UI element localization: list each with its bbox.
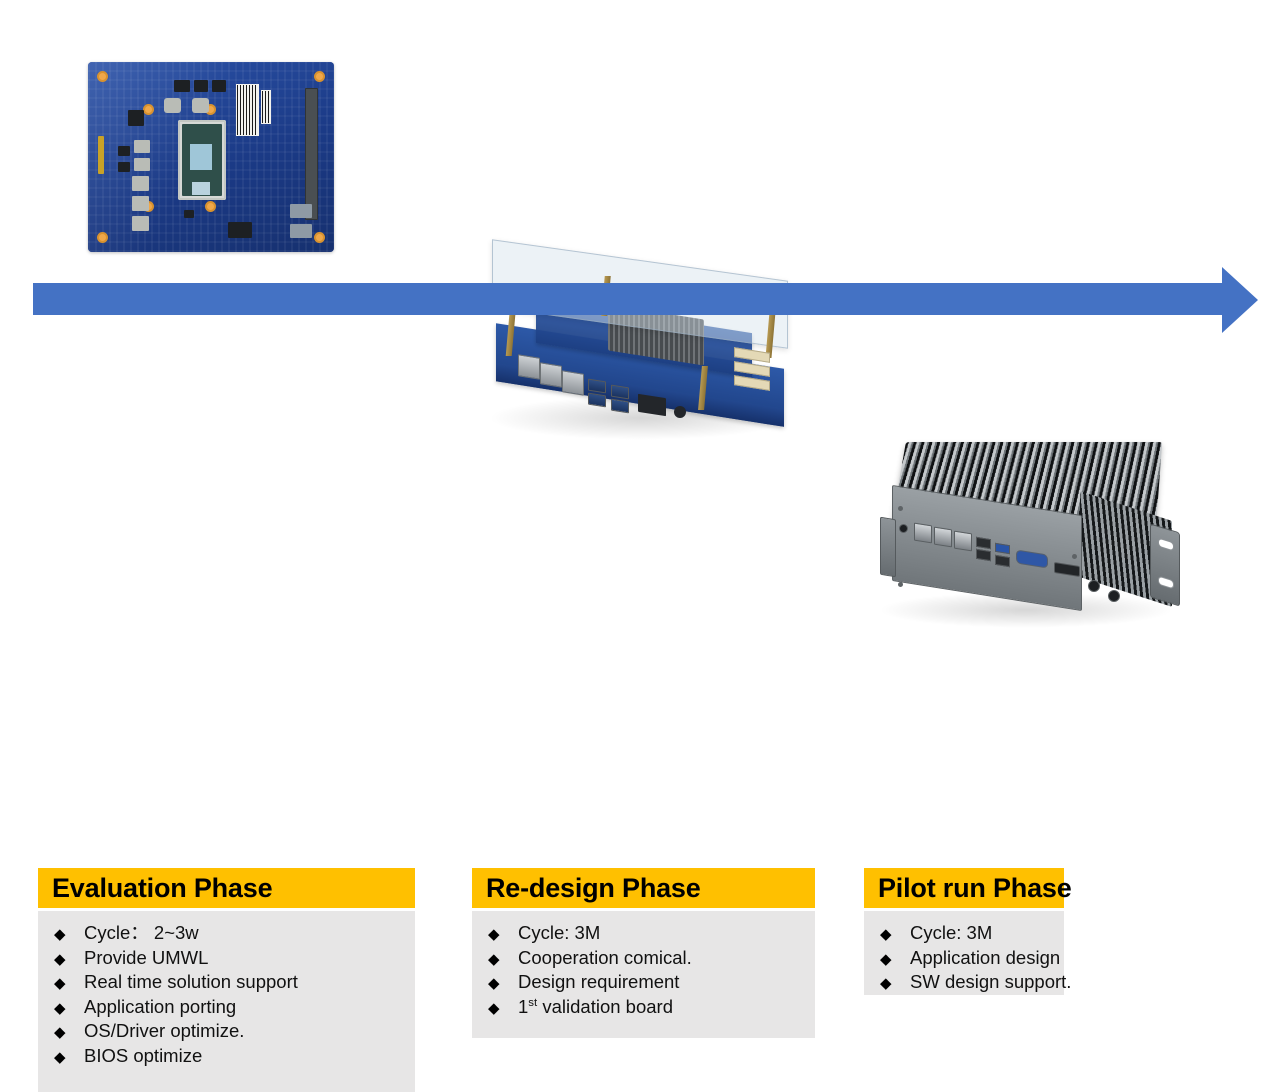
diamond-bullet-icon: ◆ (54, 925, 84, 945)
list-item: ◆ Design requirement (488, 970, 807, 995)
list-item-label: Cycle: 3M (910, 921, 992, 946)
phase-re-design-body: ◆ Cycle: 3M ◆ Cooperation comical. ◆ Des… (472, 911, 815, 1038)
diamond-bullet-icon: ◆ (54, 950, 84, 970)
list-item: ◆ BIOS optimize (54, 1044, 407, 1069)
phase-pilot-run-header: Pilot run Phase (864, 868, 1064, 908)
list-item-label: Cycle： 2~3w (84, 921, 199, 946)
list-item: ◆ Real time solution support (54, 970, 407, 995)
diamond-bullet-icon: ◆ (488, 950, 518, 970)
fanless-box-pc-photo (866, 436, 1186, 628)
list-item-label: 1st validation board (518, 995, 673, 1020)
slide-canvas: Evaluation Phase ◆ Cycle： 2~3w ◆ Provide… (0, 0, 1280, 576)
list-item-label: BIOS optimize (84, 1044, 202, 1069)
phase-pilot-run-body: ◆ Cycle: 3M ◆ Application design ◆ SW de… (864, 911, 1064, 995)
list-item: ◆ Cycle: 3M (488, 921, 807, 946)
phase-re-design-header: Re-design Phase (472, 868, 815, 908)
list-item: ◆ Cycle： 2~3w (54, 921, 407, 946)
list-item-label: Application design (910, 946, 1060, 971)
list-item: ◆ 1st validation board (488, 995, 807, 1020)
diamond-bullet-icon: ◆ (880, 974, 910, 994)
diamond-bullet-icon: ◆ (880, 950, 910, 970)
list-item-label: Cycle: 3M (518, 921, 600, 946)
phase-evaluation-body: ◆ Cycle： 2~3w ◆ Provide UMWL ◆ Real time… (38, 911, 415, 1092)
diamond-bullet-icon: ◆ (488, 974, 518, 994)
list-item: ◆ Cooperation comical. (488, 946, 807, 971)
diamond-bullet-icon: ◆ (488, 999, 518, 1019)
som-module-photo (88, 62, 334, 252)
list-item-label: Provide UMWL (84, 946, 208, 971)
phase-evaluation-title: Evaluation Phase (52, 875, 272, 902)
list-item: ◆ Provide UMWL (54, 946, 407, 971)
phase-pilot-run-title: Pilot run Phase (878, 875, 1072, 902)
phase-evaluation-header: Evaluation Phase (38, 868, 415, 908)
list-item: ◆ OS/Driver optimize. (54, 1019, 407, 1044)
list-item: ◆ Cycle: 3M (880, 921, 1056, 946)
list-item: ◆ Application porting (54, 995, 407, 1020)
list-item-label: OS/Driver optimize. (84, 1019, 244, 1044)
list-item-label: Application porting (84, 995, 236, 1020)
list-item-label: Real time solution support (84, 970, 298, 995)
diamond-bullet-icon: ◆ (54, 999, 84, 1019)
validation-board-photo (478, 254, 804, 440)
list-item-label: Design requirement (518, 970, 679, 995)
list-item: ◆ Application design (880, 946, 1056, 971)
list-item-label: SW design support. (910, 970, 1071, 995)
phase-re-design-title: Re-design Phase (486, 875, 701, 902)
diamond-bullet-icon: ◆ (54, 1023, 84, 1043)
diamond-bullet-icon: ◆ (54, 1048, 84, 1068)
diamond-bullet-icon: ◆ (880, 925, 910, 945)
list-item: ◆ SW design support. (880, 970, 1056, 995)
diamond-bullet-icon: ◆ (488, 925, 518, 945)
diamond-bullet-icon: ◆ (54, 974, 84, 994)
list-item-label: Cooperation comical. (518, 946, 692, 971)
